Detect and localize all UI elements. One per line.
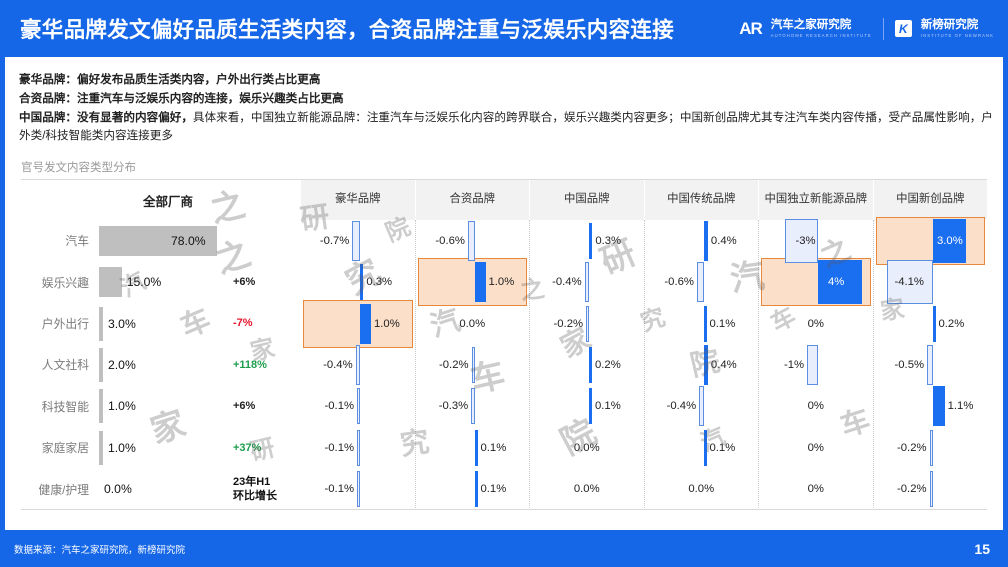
overall-bar-wrap: 0.0% xyxy=(99,469,221,510)
brand-column: -0.7%0.3%1.0%-0.4%-0.1%-0.1%-0.1% xyxy=(301,220,416,510)
brand-cell[interactable]: 0.1% xyxy=(530,386,644,427)
brand-cell[interactable]: -0.4% xyxy=(301,344,415,385)
brand-cell[interactable]: -0.6% xyxy=(416,220,530,261)
negative-bar xyxy=(586,306,589,342)
overall-row-value: 0.0% xyxy=(104,482,132,496)
brand-column: 3.0%-4.1%0.2%-0.5%1.1%-0.2%-0.2% xyxy=(874,220,988,510)
overall-row-label: 汽车 xyxy=(21,232,99,249)
brand-cell[interactable]: -0.4% xyxy=(645,386,759,427)
brand-column: -3%4%0%-1%0%0%0% xyxy=(759,220,874,510)
slide-footer: 数据来源：汽车之家研究院，新榜研究院 15 xyxy=(0,530,1008,567)
brand-cell-value: 0% xyxy=(808,400,824,412)
brand-cell-value: 0% xyxy=(808,483,824,495)
brand-cell[interactable]: 0.4% xyxy=(645,344,759,385)
brand-cell-value: -0.4% xyxy=(323,359,353,371)
brand-cell-value: 0.1% xyxy=(595,400,621,412)
logo-divider xyxy=(883,18,884,40)
brand-column: 0.4%-0.6%0.1%0.4%-0.4%0.1%0.0% xyxy=(645,220,760,510)
negative-bar xyxy=(930,471,933,507)
brand-cell-value: 0.0% xyxy=(459,318,485,330)
positive-bar xyxy=(704,306,707,342)
overall-row-value: 15.0% xyxy=(127,275,162,289)
brand-cell[interactable]: 0.0% xyxy=(530,427,644,468)
brand-cell[interactable]: 1.0% xyxy=(301,303,415,344)
brand-cell-value: 0.1% xyxy=(481,442,507,454)
brand-cell[interactable]: -0.1% xyxy=(301,469,415,510)
positive-bar xyxy=(704,221,708,261)
overall-row-value: 78.0% xyxy=(171,234,206,248)
brand-column-header[interactable]: 中国新创品牌 xyxy=(874,180,988,220)
brand-cell[interactable]: 0% xyxy=(759,303,873,344)
negative-bar xyxy=(699,386,703,426)
brand-column-header[interactable]: 豪华品牌 xyxy=(301,180,416,220)
overall-row-growth: 23年H1环比增长 xyxy=(221,475,297,504)
positive-bar xyxy=(933,386,945,426)
brand-cell-value: -0.1% xyxy=(325,442,355,454)
highlight-box xyxy=(876,217,986,265)
brand-cell[interactable]: 0% xyxy=(759,427,873,468)
positive-bar xyxy=(589,388,592,424)
brand-cell[interactable]: -0.2% xyxy=(530,303,644,344)
brand-cell[interactable]: 0.2% xyxy=(874,303,988,344)
overall-row-value: 2.0% xyxy=(108,358,136,372)
brand-cell-value: 0.2% xyxy=(939,318,965,330)
negative-bar xyxy=(468,221,475,261)
brand-cell[interactable]: 0% xyxy=(759,469,873,510)
autohome-logo-icon: AR xyxy=(739,20,762,37)
brand-cell[interactable]: -3% xyxy=(759,220,873,261)
newrank-logo-cn: 新榜研究院 xyxy=(921,19,994,32)
overall-bar xyxy=(99,267,122,297)
brand-cell[interactable]: 0.0% xyxy=(645,469,759,510)
brand-cell-value: 3.0% xyxy=(937,235,963,247)
brand-cell[interactable]: -0.4% xyxy=(530,261,644,302)
brand-cell-value: -0.7% xyxy=(320,235,350,247)
brand-cell-value: 0.1% xyxy=(710,318,736,330)
overall-row-growth: +118% xyxy=(221,358,297,372)
brand-cell-value: -0.1% xyxy=(325,400,355,412)
brand-cell[interactable]: 3.0% xyxy=(874,220,988,261)
brand-cell-value: 0.1% xyxy=(481,483,507,495)
brand-cell-value: -0.6% xyxy=(664,276,694,288)
brand-cell[interactable]: 0% xyxy=(759,386,873,427)
negative-bar xyxy=(356,345,360,385)
slide-header: 豪华品牌发文偏好品质生活类内容，合资品牌注重与泛娱乐内容连接 AR 汽车之家研究… xyxy=(0,0,1008,57)
brand-cell-value: -0.1% xyxy=(325,483,355,495)
overall-row-growth: +37% xyxy=(221,441,297,455)
positive-bar xyxy=(589,347,592,383)
brand-cell[interactable]: 1.1% xyxy=(874,386,988,427)
overall-row: 家庭家居1.0%+37% xyxy=(21,427,301,468)
summary-line-1: 豪华品牌：偏好发布品质生活类内容，户外出行类占比更高 xyxy=(19,71,994,90)
brand-cell[interactable]: -1% xyxy=(759,344,873,385)
newrank-logo-text: 新榜研究院 INSTITUTE OF NEWRANK xyxy=(921,19,994,37)
negative-bar xyxy=(357,471,360,507)
overall-row: 娱乐兴趣15.0%+6% xyxy=(21,261,301,302)
overall-row-label: 家庭家居 xyxy=(21,439,99,456)
overall-bar xyxy=(99,307,103,341)
positive-bar xyxy=(475,471,478,507)
overall-row-growth: +6% xyxy=(221,275,297,289)
negative-bar xyxy=(352,221,360,261)
overall-row-value: 1.0% xyxy=(108,441,136,455)
newrank-logo-en: INSTITUTE OF NEWRANK xyxy=(921,33,994,38)
brand-cell-value: -3% xyxy=(795,235,815,247)
overall-header: 全部厂商 xyxy=(21,180,301,220)
newrank-logo-icon: K xyxy=(895,20,912,37)
brand-cell-value: -0.4% xyxy=(667,400,697,412)
negative-bar xyxy=(697,262,704,302)
brand-cell-value: 0.3% xyxy=(366,276,392,288)
summary-line-1-lead: 豪华品牌： xyxy=(19,73,77,86)
brand-cell[interactable]: 0.0% xyxy=(530,469,644,510)
brand-cell-value: -0.3% xyxy=(439,400,469,412)
logo-group: AR 汽车之家研究院 AUTOHOME RESEARCH INSTITUTE K… xyxy=(739,18,994,40)
negative-bar xyxy=(357,430,360,466)
brand-cell[interactable]: -0.1% xyxy=(301,427,415,468)
brand-column-header[interactable]: 中国传统品牌 xyxy=(645,180,760,220)
chart-grid: 全部厂商 汽车78.0%娱乐兴趣15.0%+6%户外出行3.0%-7%人文社科2… xyxy=(21,180,987,510)
brand-column: 0.3%-0.4%-0.2%0.2%0.1%0.0%0.0% xyxy=(530,220,645,510)
page-number: 15 xyxy=(974,541,990,557)
brand-column-header[interactable]: 合资品牌 xyxy=(416,180,531,220)
brand-cell[interactable]: -0.2% xyxy=(874,427,988,468)
brand-cell[interactable]: -0.6% xyxy=(645,261,759,302)
brand-cell[interactable]: -4.1% xyxy=(874,261,988,302)
brand-cell-value: -0.4% xyxy=(552,276,582,288)
overall-bar-wrap: 2.0% xyxy=(99,344,221,385)
positive-bar xyxy=(589,223,592,259)
brand-column-header[interactable]: 中国品牌 xyxy=(530,180,645,220)
brand-column-bodies: -0.7%0.3%1.0%-0.4%-0.1%-0.1%-0.1%-0.6%1.… xyxy=(301,220,987,510)
brand-cell-value: 1.1% xyxy=(948,400,974,412)
positive-bar xyxy=(475,430,478,466)
brand-cell[interactable]: 0.0% xyxy=(416,303,530,344)
negative-bar xyxy=(927,345,933,385)
negative-bar xyxy=(930,430,933,466)
positive-bar xyxy=(475,262,486,302)
overall-row: 汽车78.0% xyxy=(21,220,301,261)
brand-column-header[interactable]: 中国独立新能源品牌 xyxy=(759,180,874,220)
brand-cell[interactable]: 0.1% xyxy=(645,427,759,468)
slide-body: 豪华品牌：偏好发布品质生活类内容，户外出行类占比更高 合资品牌：注重汽车与泛娱乐… xyxy=(5,57,1003,530)
overall-row-value: 1.0% xyxy=(108,399,136,413)
brand-cell-value: -0.2% xyxy=(897,483,927,495)
brand-cell-value: 0.3% xyxy=(595,235,621,247)
brand-cell-value: -1% xyxy=(784,359,804,371)
negative-bar xyxy=(357,388,360,424)
brand-cell[interactable]: 0.1% xyxy=(645,303,759,344)
summary-line-3-lead: 中国品牌：没有显著的内容偏好， xyxy=(19,111,193,124)
brand-cell[interactable]: -0.5% xyxy=(874,344,988,385)
brand-cell-value: -0.2% xyxy=(897,442,927,454)
overall-row-label: 科技智能 xyxy=(21,398,99,415)
brand-cell[interactable]: -0.2% xyxy=(416,344,530,385)
overall-row-label: 娱乐兴趣 xyxy=(21,274,99,291)
autohome-logo-text: 汽车之家研究院 AUTOHOME RESEARCH INSTITUTE xyxy=(771,19,872,37)
overall-panel: 全部厂商 汽车78.0%娱乐兴趣15.0%+6%户外出行3.0%-7%人文社科2… xyxy=(21,180,301,510)
brand-cell[interactable]: -0.2% xyxy=(874,469,988,510)
overall-bar-wrap: 3.0% xyxy=(99,303,221,344)
positive-bar xyxy=(704,345,708,385)
brand-cell-value: 0.0% xyxy=(688,483,714,495)
overall-bar xyxy=(99,431,103,465)
chart-caption: 官号发文内容类型分布 xyxy=(21,159,136,175)
overall-row: 科技智能1.0%+6% xyxy=(21,386,301,427)
brand-cell-value: 1.0% xyxy=(374,318,400,330)
overall-row-label: 健康/护理 xyxy=(21,481,99,498)
summary-line-3: 中国品牌：没有显著的内容偏好，具体来看，中国独立新能源品牌：注重汽车与泛娱乐化内… xyxy=(19,109,994,147)
brand-cell[interactable]: 1.0% xyxy=(416,261,530,302)
brand-cell[interactable]: 0.4% xyxy=(645,220,759,261)
autohome-logo-cn: 汽车之家研究院 xyxy=(771,19,872,32)
summary-line-1-rest: 偏好发布品质生活类内容，户外出行类占比更高 xyxy=(77,73,320,86)
negative-bar xyxy=(472,347,475,383)
brand-cell-value: -0.2% xyxy=(439,359,469,371)
brand-cell[interactable]: 0.1% xyxy=(416,469,530,510)
overall-bar xyxy=(99,389,103,423)
brand-cell-value: 0% xyxy=(808,442,824,454)
brand-cell-value: 0.0% xyxy=(574,483,600,495)
autohome-logo-en: AUTOHOME RESEARCH INSTITUTE xyxy=(771,33,872,38)
overall-bar xyxy=(99,348,103,382)
brand-cell[interactable]: 0.3% xyxy=(530,220,644,261)
overall-row-growth: +6% xyxy=(221,399,297,413)
summary-text: 豪华品牌：偏好发布品质生活类内容，户外出行类占比更高 合资品牌：注重汽车与泛娱乐… xyxy=(19,71,994,146)
brand-cell-value: 0.2% xyxy=(595,359,621,371)
brand-cell[interactable]: 4% xyxy=(759,261,873,302)
positive-bar xyxy=(360,304,371,344)
positive-bar xyxy=(704,430,707,466)
negative-bar xyxy=(471,388,474,424)
brand-cell[interactable]: -0.1% xyxy=(301,386,415,427)
brand-cell[interactable]: -0.7% xyxy=(301,220,415,261)
summary-line-2: 合资品牌：注重汽车与泛娱乐内容的连接，娱乐兴趣类占比更高 xyxy=(19,90,994,109)
brand-cell-value: 0.4% xyxy=(711,235,737,247)
brand-columns: 豪华品牌合资品牌中国品牌中国传统品牌中国独立新能源品牌中国新创品牌 -0.7%0… xyxy=(301,180,987,510)
brand-column: -0.6%1.0%0.0%-0.2%-0.3%0.1%0.1% xyxy=(416,220,531,510)
brand-cell-value: 0.1% xyxy=(710,442,736,454)
positive-bar xyxy=(360,264,363,300)
overall-row-growth: -7% xyxy=(221,316,297,330)
brand-cell-value: -0.2% xyxy=(554,318,584,330)
page-title: 豪华品牌发文偏好品质生活类内容，合资品牌注重与泛娱乐内容连接 xyxy=(20,13,674,44)
brand-cell-value: 4% xyxy=(828,276,844,288)
overall-bar-wrap: 1.0% xyxy=(99,386,221,427)
brand-cell-value: -0.6% xyxy=(435,235,465,247)
summary-line-2-lead: 合资品牌： xyxy=(19,92,77,105)
overall-row: 户外出行3.0%-7% xyxy=(21,303,301,344)
brand-cell[interactable]: 0.3% xyxy=(301,261,415,302)
brand-cell-value: 0.4% xyxy=(711,359,737,371)
brand-cell[interactable]: 0.1% xyxy=(416,427,530,468)
overall-bar-wrap: 78.0% xyxy=(99,220,221,261)
brand-cell-value: 0% xyxy=(808,318,824,330)
brand-cell-value: 0.0% xyxy=(574,442,600,454)
grid-baseline xyxy=(21,509,987,510)
overall-bar-wrap: 15.0% xyxy=(99,261,221,302)
overall-row: 人文社科2.0%+118% xyxy=(21,344,301,385)
negative-bar xyxy=(807,345,818,385)
overall-row-label: 人文社科 xyxy=(21,356,99,373)
positive-bar xyxy=(933,306,936,342)
brand-cell-value: 1.0% xyxy=(489,276,515,288)
brand-cell-value: -4.1% xyxy=(894,276,924,288)
brand-cell[interactable]: 0.2% xyxy=(530,344,644,385)
overall-row-label: 户外出行 xyxy=(21,315,99,332)
overall-row: 健康/护理0.0%23年H1环比增长 xyxy=(21,469,301,510)
brand-column-headers: 豪华品牌合资品牌中国品牌中国传统品牌中国独立新能源品牌中国新创品牌 xyxy=(301,180,987,220)
brand-cell-value: -0.5% xyxy=(895,359,925,371)
overall-rows: 汽车78.0%娱乐兴趣15.0%+6%户外出行3.0%-7%人文社科2.0%+1… xyxy=(21,220,301,510)
data-source-text: 数据来源：汽车之家研究院，新榜研究院 xyxy=(14,542,185,556)
overall-bar-wrap: 1.0% xyxy=(99,427,221,468)
brand-cell[interactable]: -0.3% xyxy=(416,386,530,427)
negative-bar xyxy=(585,262,589,302)
overall-row-value: 3.0% xyxy=(108,317,136,331)
summary-line-2-rest: 注重汽车与泛娱乐内容的连接，娱乐兴趣类占比更高 xyxy=(77,92,344,105)
